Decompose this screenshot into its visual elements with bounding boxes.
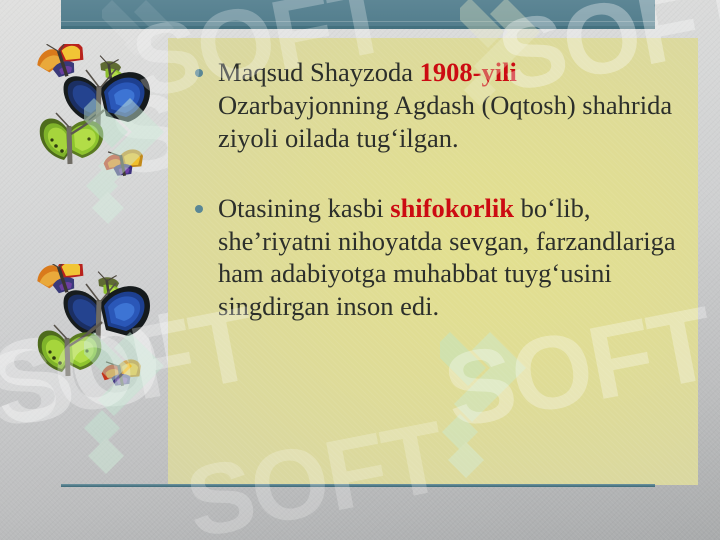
butterfly-clipart-top (26, 44, 154, 199)
bullet-text-lead: Maqsud Shayzoda (218, 57, 420, 87)
butterfly-group-icon (26, 44, 154, 199)
butterfly-group-icon (26, 264, 154, 407)
bullet-text-tail: Ozarbayjonning Agdash (Oqtosh) shahrida … (218, 90, 672, 153)
bullet-text-lead: Otasining kasbi (218, 193, 390, 223)
content-panel-inner: Maqsud Shayzoda 1908-yili Ozarbayjonning… (168, 38, 698, 485)
list-item: Otasining kasbi shifokorlik bo‘lib, she’… (184, 192, 682, 324)
bullet-list: Maqsud Shayzoda 1908-yili Ozarbayjonning… (184, 56, 682, 323)
slide-canvas: SOFT SOFT Maqsud Shayzoda 1908-yili Ozar… (0, 0, 720, 540)
bullet-dot-icon (195, 69, 203, 77)
butterfly-clipart-bottom (26, 264, 154, 407)
bullet-dot-icon (195, 205, 203, 213)
header-bottom-edge (61, 26, 655, 29)
bullet-emphasis: 1908-yili (420, 57, 517, 87)
list-item: Maqsud Shayzoda 1908-yili Ozarbayjonning… (184, 56, 682, 155)
header-highlight-line (61, 21, 655, 22)
slide-header-bar (61, 0, 655, 29)
content-panel: Maqsud Shayzoda 1908-yili Ozarbayjonning… (168, 38, 698, 485)
slide-bottom-rule (61, 484, 655, 487)
bullet-emphasis: shifokorlik (390, 193, 514, 223)
